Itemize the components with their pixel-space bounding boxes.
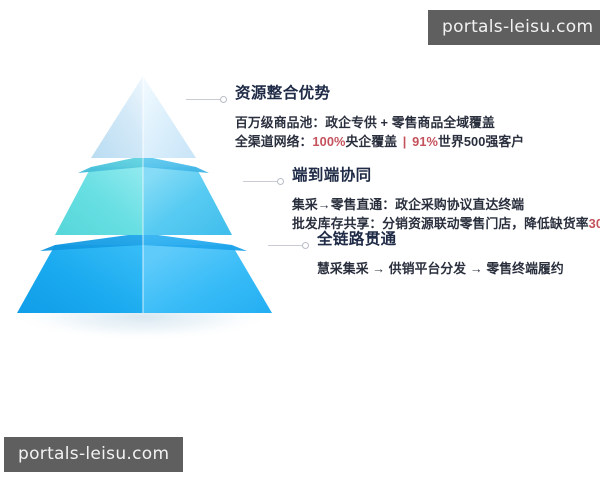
text-segment: 央企覆盖 xyxy=(346,134,398,149)
text-segment: 全渠道网络： xyxy=(235,134,312,149)
connector-stem xyxy=(243,181,277,182)
connector-stem xyxy=(186,99,220,100)
text-segment: 慧采集采 → 供销平台分发 → 零售终端履约 xyxy=(317,261,564,276)
callout-block-full-chain: 全链路贯通 慧采集采 → 供销平台分发 → 零售终端履约 xyxy=(317,231,564,278)
separator: | xyxy=(397,134,412,149)
pyramid-level-middle xyxy=(55,156,232,235)
callout-title: 全链路贯通 xyxy=(317,231,564,250)
text-segment: 世界500强客户 xyxy=(438,134,524,149)
connector-line-level-middle xyxy=(243,176,291,188)
metric-value: 100% xyxy=(312,134,345,149)
callout-title: 资源整合优势 xyxy=(235,85,524,104)
callout-line: 全渠道网络：100%央企覆盖 | 91%世界500强客户 xyxy=(235,132,524,151)
callout-title: 端到端协同 xyxy=(292,167,600,186)
connector-dot-icon xyxy=(220,96,227,103)
callout-block-end-to-end: 端到端协同 集采→零售直通：政企采购协议直达终端 批发库存共享：分销资源联动零售… xyxy=(292,167,600,233)
pyramid-level-bottom xyxy=(17,233,272,313)
text-segment: 批发库存共享：分销资源联动零售门店，降低缺货率 xyxy=(292,216,589,231)
metric-value: 30%+ xyxy=(589,216,600,231)
connector-line-level-bottom xyxy=(268,240,316,252)
connector-dot-icon xyxy=(302,242,309,249)
callout-block-resource-integration: 资源整合优势 百万级商品池：政企专供 + 零售商品全域覆盖 全渠道网络：100%… xyxy=(235,85,524,151)
watermark-top: portals-leisu.com xyxy=(428,10,600,45)
callout-line: 慧采集采 → 供销平台分发 → 零售终端履约 xyxy=(317,259,564,278)
infographic-canvas: 资源整合优势 百万级商品池：政企专供 + 零售商品全域覆盖 全渠道网络：100%… xyxy=(0,0,600,480)
callout-line: 集采→零售直通：政企采购协议直达终端 xyxy=(292,195,600,214)
watermark-bottom: portals-leisu.com xyxy=(4,437,183,472)
connector-stem xyxy=(268,245,302,246)
connector-dot-icon xyxy=(277,178,284,185)
callout-line: 百万级商品池：政企专供 + 零售商品全域覆盖 xyxy=(235,113,524,132)
text-segment: 百万级商品池：政企专供 + 零售商品全域覆盖 xyxy=(235,115,495,130)
text-segment: 集采→零售直通：政企采购协议直达终端 xyxy=(292,197,524,212)
connector-line-level-top xyxy=(186,94,234,106)
metric-value: 91% xyxy=(412,134,438,149)
pyramid-level-top xyxy=(91,76,196,158)
